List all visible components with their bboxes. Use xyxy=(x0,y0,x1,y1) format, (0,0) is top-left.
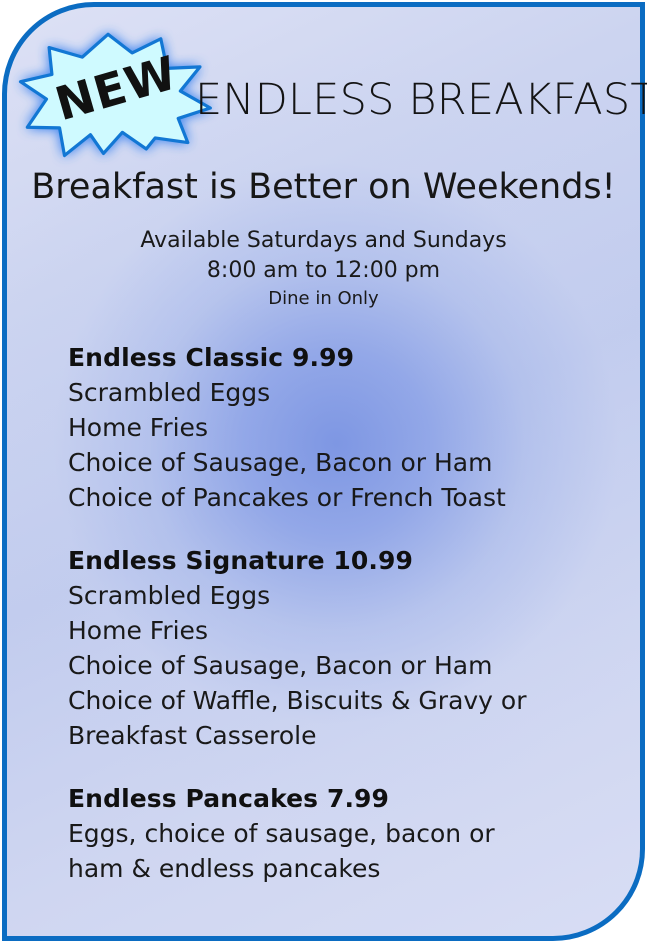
new-badge-label: NEW xyxy=(51,49,183,127)
availability-hours: 8:00 am to 12:00 pm xyxy=(0,256,647,286)
menu-section-title: Endless Signature 10.99 xyxy=(68,543,628,578)
availability-note: Dine in Only xyxy=(0,286,647,312)
menu-item: Home Fries xyxy=(68,613,628,648)
availability-days: Available Saturdays and Sundays xyxy=(0,226,647,256)
menu-item: ham & endless pancakes xyxy=(68,851,628,886)
menu-item: Scrambled Eggs xyxy=(68,578,628,613)
menu-section-title: Endless Classic 9.99 xyxy=(68,340,628,375)
menu-item: Choice of Sausage, Bacon or Ham xyxy=(68,445,628,480)
menu-item: Choice of Pancakes or French Toast xyxy=(68,480,628,515)
menu-item: Home Fries xyxy=(68,410,628,445)
menu-section: Endless Signature 10.99 Scrambled Eggs H… xyxy=(68,543,628,753)
menu-item: Choice of Waffle, Biscuits & Gravy or xyxy=(68,683,628,718)
menu-section: Endless Classic 9.99 Scrambled Eggs Home… xyxy=(68,340,628,515)
menu-sections: Endless Classic 9.99 Scrambled Eggs Home… xyxy=(68,340,628,886)
menu-item: Scrambled Eggs xyxy=(68,375,628,410)
poster-tagline: Breakfast is Better on Weekends! xyxy=(0,166,647,208)
menu-item: Breakfast Casserole xyxy=(68,718,628,753)
availability-block: Available Saturdays and Sundays 8:00 am … xyxy=(0,226,647,312)
menu-item: Choice of Sausage, Bacon or Ham xyxy=(68,648,628,683)
endless-breakfast-poster: NEW ENDLESS BREAKFAST Breakfast is Bette… xyxy=(0,0,647,943)
new-badge: NEW xyxy=(14,28,214,154)
poster-header: NEW ENDLESS BREAKFAST xyxy=(0,0,647,160)
poster-title: ENDLESS BREAKFAST xyxy=(195,76,647,124)
menu-section-title: Endless Pancakes 7.99 xyxy=(68,781,628,816)
menu-item: Eggs, choice of sausage, bacon or xyxy=(68,816,628,851)
menu-section: Endless Pancakes 7.99 Eggs, choice of sa… xyxy=(68,781,628,886)
poster-content: NEW ENDLESS BREAKFAST Breakfast is Bette… xyxy=(0,0,647,943)
